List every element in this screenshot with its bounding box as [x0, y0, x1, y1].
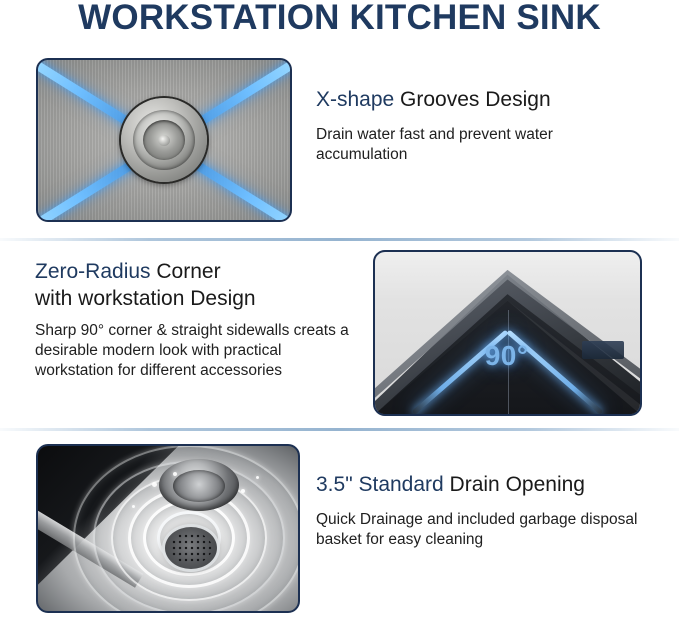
body-x-shape-grooves: Drain water fast and prevent water accum…: [316, 125, 616, 165]
angle-label-90-degrees: 90°: [485, 340, 529, 372]
top-strainer-ring: [173, 470, 225, 502]
water-droplet-3: [241, 489, 245, 493]
heading-drain-opening: 3.5" Standard Drain Opening: [316, 471, 671, 498]
drain-center-hub: [158, 135, 170, 146]
figure-x-shape-grooves: [36, 58, 292, 222]
heading-rest: Corner: [151, 260, 221, 283]
body-drain-opening: Quick Drainage and included garbage disp…: [316, 510, 646, 550]
text-block-zero-radius-corner: Zero-Radius Cornerwith workstation Desig…: [35, 258, 365, 381]
heading-accent: 3.5" Standard: [316, 473, 444, 496]
page-title: WORKSTATION KITCHEN SINK: [0, 0, 679, 40]
text-block-x-shape-grooves: X-shape Grooves Design Drain water fast …: [316, 86, 666, 165]
heading-accent: X-shape: [316, 88, 394, 111]
text-block-drain-opening: 3.5" Standard Drain Opening Quick Draina…: [316, 471, 671, 550]
drain-strainer-basket: [165, 527, 217, 569]
basket-perforations: [170, 532, 212, 564]
heading-x-shape-grooves: X-shape Grooves Design: [316, 86, 666, 113]
heading-zero-radius-corner: Zero-Radius Cornerwith workstation Desig…: [35, 258, 355, 312]
section-divider-1: [0, 238, 679, 241]
heading-rest: Grooves Design: [394, 88, 550, 111]
top-strainer-assembly: [159, 459, 239, 511]
heading-line-2: with workstation Design: [35, 287, 256, 310]
heading-rest: Drain Opening: [444, 473, 585, 496]
infographic-page: WORKSTATION KITCHEN SINK X-shape Grooves…: [0, 0, 679, 618]
figure-zero-radius-corner: 90°: [373, 250, 642, 416]
heading-accent: Zero-Radius: [35, 260, 151, 283]
figure-drain-opening: [36, 444, 300, 613]
section-divider-2: [0, 428, 679, 431]
body-zero-radius-corner: Sharp 90° corner & straight sidewalls cr…: [35, 321, 353, 381]
